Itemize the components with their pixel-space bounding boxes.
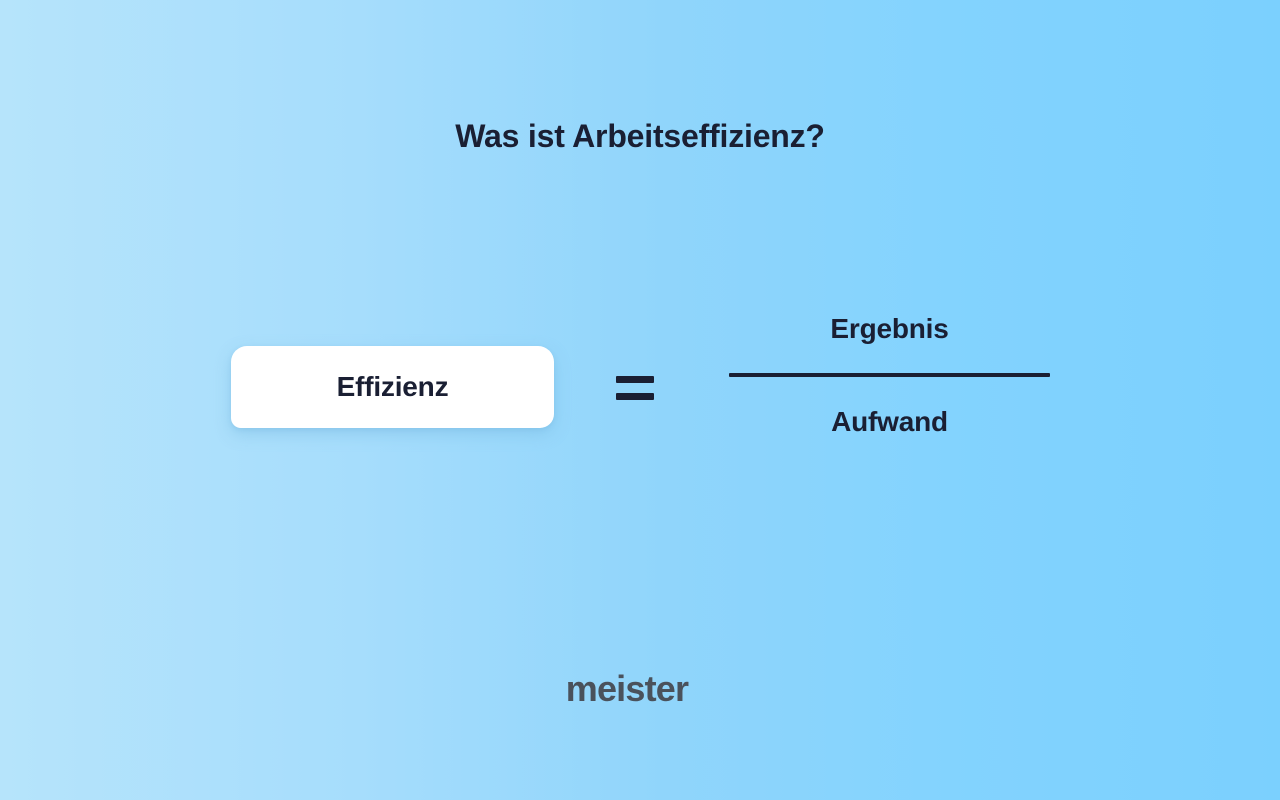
- equals-sign-icon: [616, 374, 654, 400]
- page-title: Was ist Arbeitseffizienz?: [0, 112, 1280, 160]
- slide-canvas: Was ist Arbeitseffizienz? Effizienz Erge…: [0, 0, 1280, 800]
- equals-bar-top: [616, 376, 654, 383]
- efficiency-card-label: Effizienz: [337, 371, 449, 403]
- fraction: Ergebnis Aufwand: [729, 312, 1050, 439]
- efficiency-equation: Effizienz Ergebnis Aufwand: [0, 300, 1280, 500]
- fraction-denominator: Aufwand: [729, 405, 1050, 439]
- brand-logo: meister: [0, 667, 1280, 711]
- brand-wordmark: meister: [566, 667, 688, 711]
- equals-bar-bottom: [616, 393, 654, 400]
- fraction-numerator: Ergebnis: [729, 312, 1050, 346]
- fraction-bar: [729, 373, 1050, 377]
- efficiency-card: Effizienz: [231, 346, 554, 428]
